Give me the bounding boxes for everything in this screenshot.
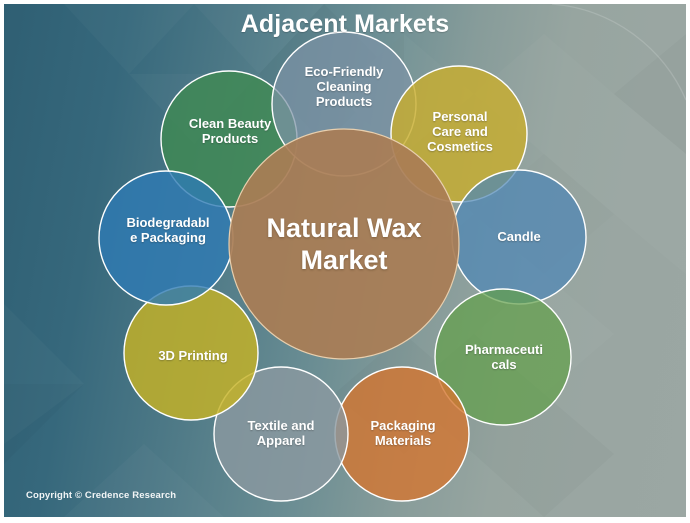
circle-natural-wax-market[interactable] bbox=[229, 129, 459, 359]
circle-candle[interactable] bbox=[452, 170, 586, 304]
page-title: Adjacent Markets bbox=[4, 10, 686, 39]
venn-diagram bbox=[4, 4, 686, 517]
venn-center-circle bbox=[229, 129, 459, 359]
circle-3d-printing[interactable] bbox=[124, 286, 258, 420]
copyright-notice: Copyright © Credence Research bbox=[26, 490, 176, 501]
diagram-stage: Adjacent Markets Natural Wax Market Clea… bbox=[4, 4, 686, 517]
circle-packaging-materials[interactable] bbox=[335, 367, 469, 501]
circle-biodegradable-packaging[interactable] bbox=[99, 171, 233, 305]
diagram-canvas: Adjacent Markets Natural Wax Market Clea… bbox=[0, 0, 690, 523]
